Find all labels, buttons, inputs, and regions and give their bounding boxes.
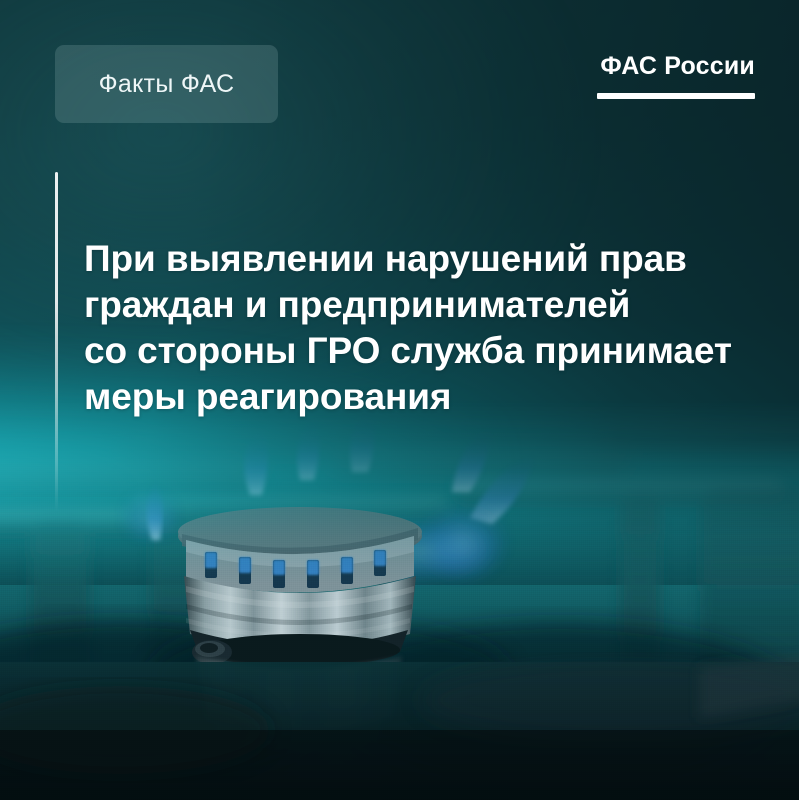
- poster-root: Факты ФАС ФАС России При выявлении наруш…: [0, 0, 799, 800]
- category-badge-label: Факты ФАС: [99, 70, 235, 99]
- headline-accent-line: [55, 172, 58, 512]
- photo-grain-overlay: [0, 400, 799, 800]
- gas-stove-photo: [0, 400, 799, 800]
- headline-line: меры реагирования: [84, 374, 774, 420]
- headline-line: граждан и предпринимателей: [84, 282, 774, 328]
- headline-line: со стороны ГРО служба принимает: [84, 328, 774, 374]
- category-badge[interactable]: Факты ФАС: [55, 45, 278, 123]
- brand-label: ФАС России: [597, 52, 755, 81]
- headline-line: При выявлении нарушений прав: [84, 236, 774, 282]
- brand-underline-rule: [597, 93, 755, 99]
- headline: При выявлении нарушений прав граждан и п…: [84, 236, 774, 420]
- brand-block: ФАС России: [597, 52, 755, 99]
